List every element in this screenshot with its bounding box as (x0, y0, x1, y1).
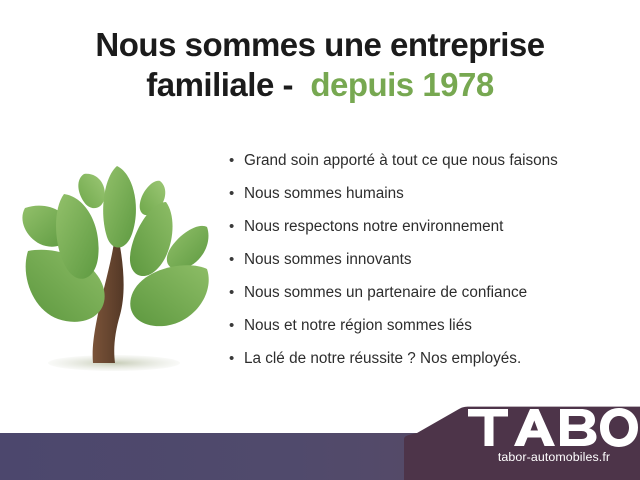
list-item: • Nous sommes humains (229, 183, 629, 216)
tree-illustration (14, 152, 224, 392)
brand-logo[interactable]: tabor-automobiles.fr (468, 406, 640, 474)
title-line-2-main: familiale - (146, 66, 293, 103)
list-item-label: Nous sommes innovants (244, 249, 412, 271)
list-item-label: Nous respectons notre environnement (244, 216, 503, 238)
brand-website-label[interactable]: tabor-automobiles.fr (470, 450, 638, 464)
slide-canvas: Nous sommes une entreprise familiale - d… (0, 0, 640, 480)
page-title: Nous sommes une entreprise familiale - d… (0, 26, 640, 105)
benefits-list: • Grand soin apporté à tout ce que nous … (229, 150, 629, 381)
bullet-icon: • (229, 348, 244, 370)
list-item: • Nous sommes un partenaire de confiance (229, 282, 629, 315)
list-item-label: La clé de notre réussite ? Nos employés. (244, 348, 521, 370)
list-item: • Grand soin apporté à tout ce que nous … (229, 150, 629, 183)
list-item-label: Nous sommes un partenaire de confiance (244, 282, 527, 304)
tabor-wordmark-icon[interactable] (468, 408, 638, 448)
title-line-1: Nous sommes une entreprise (0, 26, 640, 64)
list-item-label: Grand soin apporté à tout ce que nous fa… (244, 150, 558, 172)
title-accent-text: depuis 1978 (310, 66, 493, 103)
tree-illustration-graphic (14, 152, 224, 392)
bullet-icon: • (229, 315, 244, 337)
bullet-icon: • (229, 249, 244, 271)
bullet-icon: • (229, 183, 244, 205)
bullet-icon: • (229, 150, 244, 172)
bullet-icon: • (229, 216, 244, 238)
list-item: • Nous et notre région sommes liés (229, 315, 629, 348)
tree-leaf-top-small-left (78, 174, 105, 208)
list-item-label: Nous sommes humains (244, 183, 404, 205)
list-item-label: Nous et notre région sommes liés (244, 315, 472, 337)
bullet-icon: • (229, 282, 244, 304)
tree-leaf-center (103, 166, 136, 248)
tree-leaf-mid-right (130, 202, 173, 276)
list-item: • La clé de notre réussite ? Nos employé… (229, 348, 629, 381)
title-line-2: familiale - depuis 1978 (0, 66, 640, 104)
list-item: • Nous sommes innovants (229, 249, 629, 282)
tree-leaf-right (167, 226, 209, 269)
list-item: • Nous respectons notre environnement (229, 216, 629, 249)
